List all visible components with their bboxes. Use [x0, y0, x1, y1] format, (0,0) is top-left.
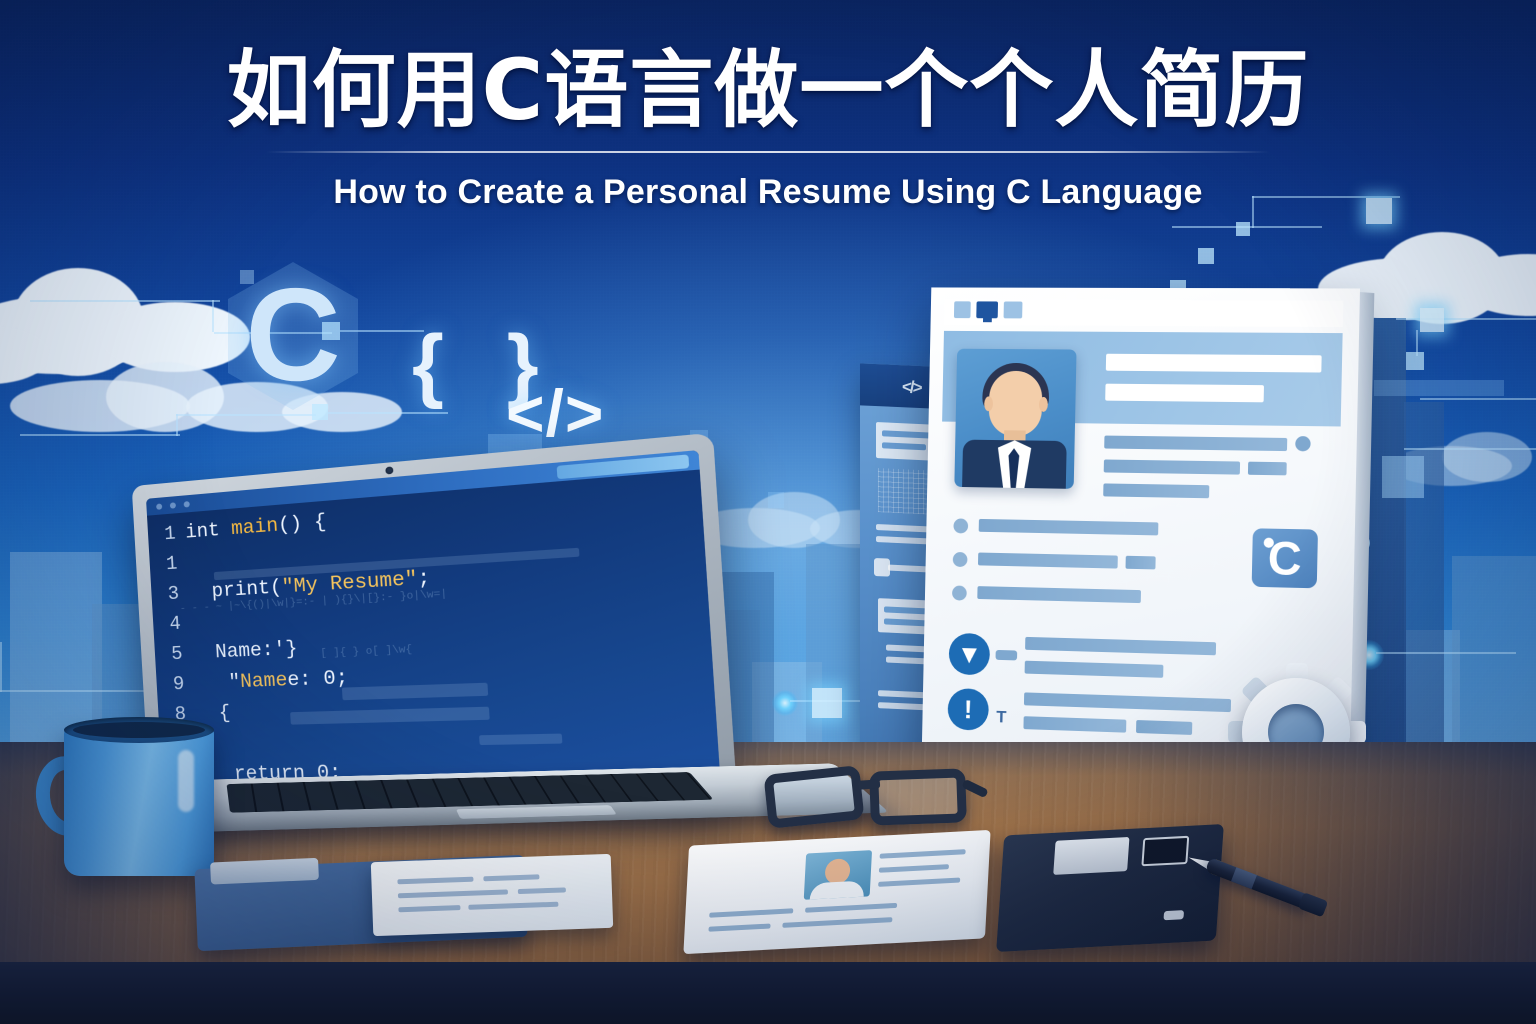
title-divider: [266, 151, 1270, 153]
poster-canvas: 如何用C语言做一个个人简历 How to Create a Personal R…: [0, 0, 1536, 1024]
page-subtitle-english: How to Create a Personal Resume Using C …: [0, 173, 1536, 212]
poster-title-block: 如何用C语言做一个个人简历 How to Create a Personal R…: [0, 46, 1536, 212]
bottom-dark-band: [0, 962, 1536, 1024]
page-title-chinese: 如何用C语言做一个个人简历: [0, 46, 1536, 135]
